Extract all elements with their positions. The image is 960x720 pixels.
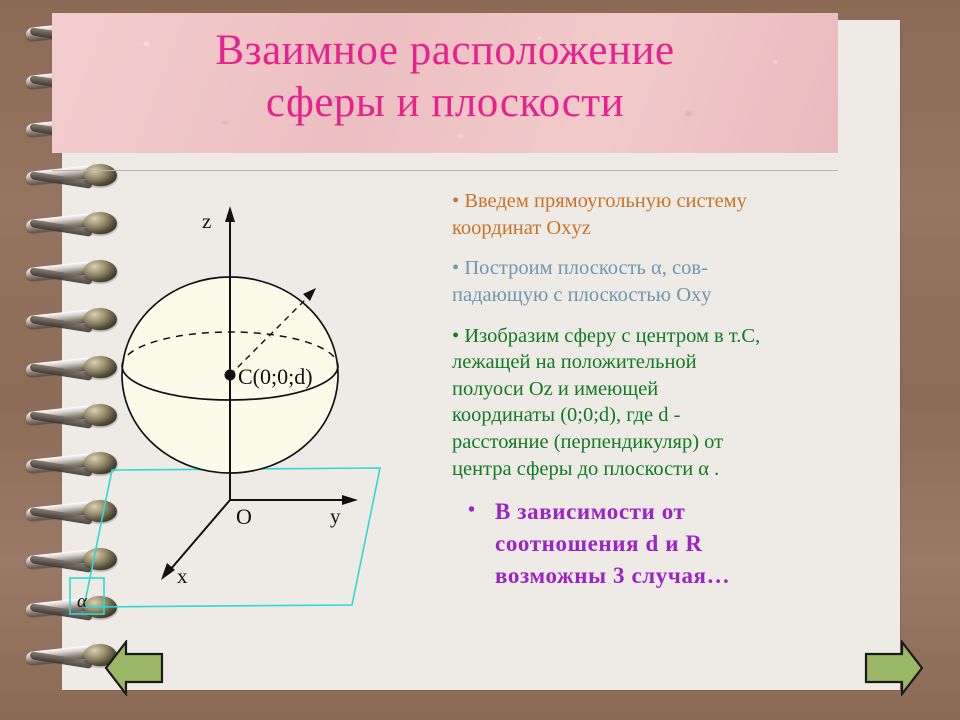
bullet-line: Введем прямоугольную систему — [464, 190, 747, 212]
arrow-right-icon[interactable] — [866, 642, 922, 694]
axis-y-label: y — [330, 504, 341, 528]
axis-z-label: z — [202, 209, 211, 233]
sphere-center-label: C(0;0;d) — [238, 364, 313, 389]
next-slide-button[interactable] — [856, 640, 924, 696]
axis-y-arrowhead — [342, 495, 358, 505]
bullet-list: • Введем прямоугольную систему координат… — [452, 188, 902, 592]
arrow-left-icon[interactable] — [106, 642, 162, 694]
sphere-center-point — [225, 370, 236, 381]
bullet-item-3: • Изобразим сферу с центром в т.С, лежащ… — [452, 323, 902, 483]
bullet-line: В зависимости от — [495, 496, 730, 528]
bullet-line: лежащей на положительной — [452, 351, 697, 373]
origin-label: O — [236, 504, 252, 529]
page-title-line-2: сферы и плоскости — [52, 77, 838, 129]
bullet-marker: • — [452, 325, 459, 347]
bullet-marker: • — [452, 257, 459, 279]
plane-alpha-label: α — [77, 591, 88, 612]
slide: Взаимное расположение сферы и плоскости — [0, 0, 960, 720]
page-title: Взаимное расположение сферы и плоскости — [52, 25, 838, 130]
axis-z-arrowhead — [225, 206, 235, 222]
bullet-line: Построим плоскость α, сов- — [464, 257, 708, 279]
bullet-line: координаты (0;0;d), где d - — [452, 404, 680, 426]
geometry-diagram: z y x O C(0;0;d) α — [62, 180, 462, 650]
bullet-marker: • — [468, 496, 475, 591]
bullet-item-1: • Введем прямоугольную систему координат… — [452, 188, 902, 241]
bullet-item-conclusion: • В зависимости от соотношения d и R воз… — [468, 496, 902, 591]
plane-alpha-shape — [84, 468, 380, 607]
bullet-line: расстояние (перпендикуляр) от — [452, 431, 723, 453]
prev-slide-button[interactable] — [104, 640, 172, 696]
bullet-line: соотношения d и R — [495, 528, 730, 560]
bullet-conclusion-lines: В зависимости от соотношения d и R возмо… — [495, 496, 730, 591]
page-title-line-1: Взаимное расположение — [52, 25, 838, 77]
axis-x-line — [170, 500, 230, 570]
bullet-marker: • — [452, 190, 459, 212]
bullet-line: Изобразим сферу с центром в т.С, — [464, 325, 760, 347]
sphere-radius-arrowhead — [303, 288, 316, 301]
title-divider — [52, 170, 838, 171]
bullet-line: координат Oxyz — [452, 217, 591, 239]
bullet-line: падающую с плоскостью Oxy — [452, 284, 712, 306]
bullet-line: центра сферы до плоскости α . — [452, 458, 719, 480]
bullet-line: полуоси Oz и имеющей — [452, 378, 658, 400]
axis-x-label: x — [177, 564, 188, 588]
bullet-line: возможны 3 случая… — [495, 560, 730, 592]
bullet-item-2: • Построим плоскость α, сов- падающую с … — [452, 255, 902, 308]
